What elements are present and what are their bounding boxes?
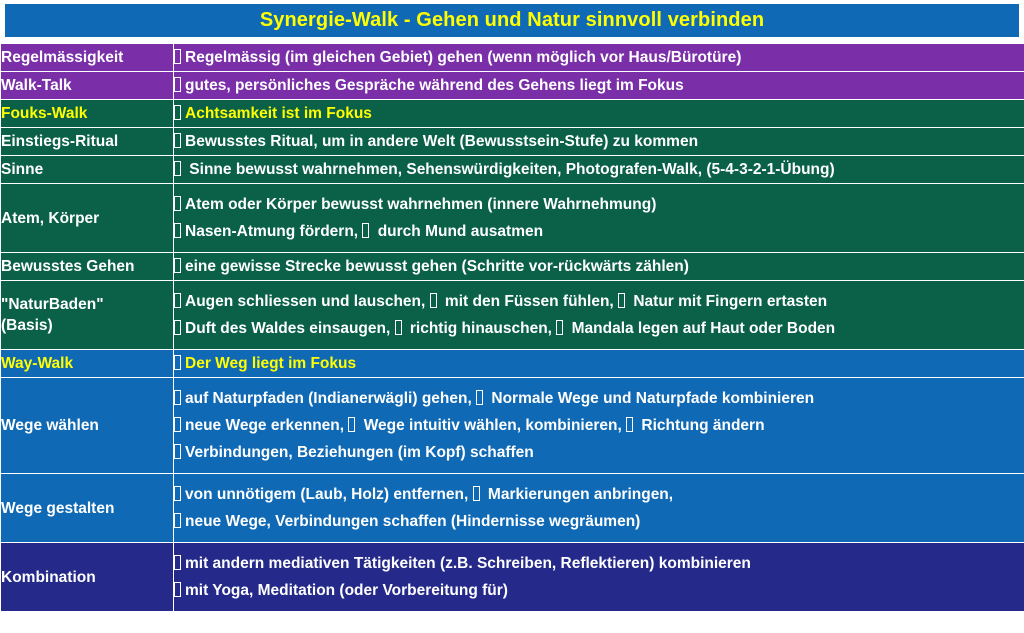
checkbox-placeholder-icon <box>174 555 181 570</box>
checkbox-placeholder-icon <box>174 444 181 459</box>
table-row: Kombinationmit andern mediativen Tätigke… <box>1 543 1024 612</box>
checkbox-placeholder-icon <box>174 390 181 405</box>
row-content-line: Regelmässig (im gleichen Gebiet) gehen (… <box>174 44 1024 71</box>
synergie-walk-table: RegelmässigkeitRegelmässig (im gleichen … <box>0 43 1024 612</box>
checkbox-placeholder-icon <box>348 417 355 432</box>
checkbox-placeholder-icon <box>174 161 181 176</box>
row-label-cell: Einstiegs-Ritual <box>1 128 174 156</box>
checkbox-placeholder-icon <box>174 49 181 64</box>
table-row: Fouks-WalkAchtsamkeit ist im Fokus <box>1 100 1024 128</box>
table-row: Atem, KörperAtem oder Körper bewusst wah… <box>1 184 1024 253</box>
checkbox-placeholder-icon <box>362 223 369 238</box>
row-content-line: eine gewisse Strecke bewusst gehen (Schr… <box>174 253 1024 280</box>
row-content-line: mit andern mediativen Tätigkeiten (z.B. … <box>174 550 1024 577</box>
row-label-cell: Wege gestalten <box>1 474 174 543</box>
row-content-line: Augen schliessen und lauschen, mit den F… <box>174 288 1024 315</box>
table-row: Sinne Sinne bewusst wahrnehmen, Sehenswü… <box>1 156 1024 184</box>
checkbox-placeholder-icon <box>174 293 181 308</box>
synergie-walk-table-page: Synergie-Walk - Gehen und Natur sinnvoll… <box>0 0 1024 633</box>
checkbox-placeholder-icon <box>618 293 625 308</box>
row-content-cell: Sinne bewusst wahrnehmen, Sehenswürdigke… <box>174 156 1024 184</box>
row-content: Regelmässig (im gleichen Gebiet) gehen (… <box>174 44 1024 71</box>
row-label-cell: Atem, Körper <box>1 184 174 253</box>
table-row: Walk-Talkgutes, persönliches Gespräche w… <box>1 72 1024 100</box>
table-row: RegelmässigkeitRegelmässig (im gleichen … <box>1 44 1024 72</box>
checkbox-placeholder-icon <box>174 417 181 432</box>
table-row: Wege gestaltenvon unnötigem (Laub, Holz)… <box>1 474 1024 543</box>
row-content-line: Atem oder Körper bewusst wahrnehmen (inn… <box>174 191 1024 218</box>
checkbox-placeholder-icon <box>174 105 181 120</box>
page-title: Synergie-Walk - Gehen und Natur sinnvoll… <box>260 9 764 32</box>
row-label-cell: Way-Walk <box>1 350 174 378</box>
checkbox-placeholder-icon <box>174 320 181 335</box>
row-content-line: gutes, persönliches Gespräche während de… <box>174 72 1024 99</box>
row-content: eine gewisse Strecke bewusst gehen (Schr… <box>174 253 1024 280</box>
checkbox-placeholder-icon <box>473 486 480 501</box>
row-content-cell: gutes, persönliches Gespräche während de… <box>174 72 1024 100</box>
row-content: Augen schliessen und lauschen, mit den F… <box>174 288 1024 342</box>
row-content-line: mit Yoga, Meditation (oder Vorbereitung … <box>174 577 1024 604</box>
row-content: von unnötigem (Laub, Holz) entfernen, Ma… <box>174 481 1024 535</box>
row-label-cell: Walk-Talk <box>1 72 174 100</box>
row-content-cell: Augen schliessen und lauschen, mit den F… <box>174 281 1024 350</box>
row-content-line: neue Wege, Verbindungen schaffen (Hinder… <box>174 508 1024 535</box>
row-content: Atem oder Körper bewusst wahrnehmen (inn… <box>174 191 1024 245</box>
row-content-cell: Atem oder Körper bewusst wahrnehmen (inn… <box>174 184 1024 253</box>
checkbox-placeholder-icon <box>174 258 181 273</box>
table-body: RegelmässigkeitRegelmässig (im gleichen … <box>1 44 1024 612</box>
checkbox-placeholder-icon <box>174 77 181 92</box>
row-content-line: neue Wege erkennen, Wege intuitiv wählen… <box>174 412 1024 439</box>
checkbox-placeholder-icon <box>476 390 483 405</box>
page-title-banner: Synergie-Walk - Gehen und Natur sinnvoll… <box>5 4 1019 37</box>
checkbox-placeholder-icon <box>174 355 181 370</box>
table-row: Way-WalkDer Weg liegt im Fokus <box>1 350 1024 378</box>
row-label: Regelmässigkeit <box>1 47 173 68</box>
checkbox-placeholder-icon <box>174 223 181 238</box>
row-label: Einstiegs-Ritual <box>1 131 173 152</box>
row-label: Bewusstes Gehen <box>1 256 173 277</box>
row-content-line: Der Weg liegt im Fokus <box>174 350 1024 377</box>
row-label-cell: Bewusstes Gehen <box>1 253 174 281</box>
checkbox-placeholder-icon <box>174 133 181 148</box>
row-content-line: Nasen-Atmung fördern, durch Mund ausatme… <box>174 218 1024 245</box>
row-content-cell: Regelmässig (im gleichen Gebiet) gehen (… <box>174 44 1024 72</box>
row-content-line: Sinne bewusst wahrnehmen, Sehenswürdigke… <box>174 156 1024 183</box>
row-content: mit andern mediativen Tätigkeiten (z.B. … <box>174 550 1024 604</box>
checkbox-placeholder-icon <box>430 293 437 308</box>
row-content-cell: Bewusstes Ritual, um in andere Welt (Bew… <box>174 128 1024 156</box>
row-content-cell: auf Naturpfaden (Indianerwägli) gehen, N… <box>174 378 1024 474</box>
row-label: Wege wählen <box>1 415 173 436</box>
row-content-line: Verbindungen, Beziehungen (im Kopf) scha… <box>174 439 1024 466</box>
row-label: Kombination <box>1 567 173 588</box>
table-row: Einstiegs-RitualBewusstes Ritual, um in … <box>1 128 1024 156</box>
row-label: Walk-Talk <box>1 75 173 96</box>
row-content-line: von unnötigem (Laub, Holz) entfernen, Ma… <box>174 481 1024 508</box>
row-content-line: Duft des Waldes einsaugen, richtig hinau… <box>174 315 1024 342</box>
row-content-cell: Der Weg liegt im Fokus <box>174 350 1024 378</box>
row-label-cell: Wege wählen <box>1 378 174 474</box>
checkbox-placeholder-icon <box>174 513 181 528</box>
checkbox-placeholder-icon <box>626 417 633 432</box>
row-label-cell: Kombination <box>1 543 174 612</box>
checkbox-placeholder-icon <box>395 320 402 335</box>
checkbox-placeholder-icon <box>556 320 563 335</box>
table-row: "NaturBaden" (Basis)Augen schliessen und… <box>1 281 1024 350</box>
checkbox-placeholder-icon <box>174 196 181 211</box>
row-label: Atem, Körper <box>1 208 173 229</box>
table-row: Wege wählenauf Naturpfaden (Indianerwägl… <box>1 378 1024 474</box>
row-label-cell: Fouks-Walk <box>1 100 174 128</box>
row-content-cell: eine gewisse Strecke bewusst gehen (Schr… <box>174 253 1024 281</box>
checkbox-placeholder-icon <box>174 486 181 501</box>
row-content: Der Weg liegt im Fokus <box>174 350 1024 377</box>
row-label: Way-Walk <box>1 353 173 374</box>
row-label: Sinne <box>1 159 173 180</box>
row-content-cell: von unnötigem (Laub, Holz) entfernen, Ma… <box>174 474 1024 543</box>
row-content-cell: Achtsamkeit ist im Fokus <box>174 100 1024 128</box>
table-row: Bewusstes Geheneine gewisse Strecke bewu… <box>1 253 1024 281</box>
row-content-line: auf Naturpfaden (Indianerwägli) gehen, N… <box>174 385 1024 412</box>
row-content: auf Naturpfaden (Indianerwägli) gehen, N… <box>174 385 1024 466</box>
row-label-cell: Sinne <box>1 156 174 184</box>
row-content-line: Achtsamkeit ist im Fokus <box>174 100 1024 127</box>
row-content: Achtsamkeit ist im Fokus <box>174 100 1024 127</box>
row-content: gutes, persönliches Gespräche während de… <box>174 72 1024 99</box>
row-label-cell: "NaturBaden" (Basis) <box>1 281 174 350</box>
row-content: Bewusstes Ritual, um in andere Welt (Bew… <box>174 128 1024 155</box>
checkbox-placeholder-icon <box>174 582 181 597</box>
row-label-cell: Regelmässigkeit <box>1 44 174 72</box>
row-content-cell: mit andern mediativen Tätigkeiten (z.B. … <box>174 543 1024 612</box>
row-label: Fouks-Walk <box>1 103 173 124</box>
row-label: "NaturBaden" (Basis) <box>1 294 173 336</box>
row-content: Sinne bewusst wahrnehmen, Sehenswürdigke… <box>174 156 1024 183</box>
row-label: Wege gestalten <box>1 498 173 519</box>
row-content-line: Bewusstes Ritual, um in andere Welt (Bew… <box>174 128 1024 155</box>
